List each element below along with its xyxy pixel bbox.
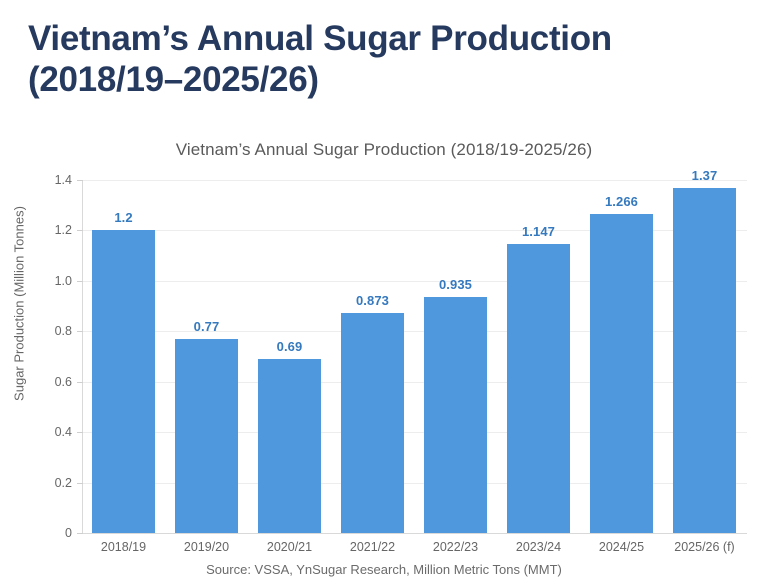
bar[interactable] (673, 188, 735, 533)
x-tick-label: 2025/26 (f) (663, 540, 746, 554)
x-tick-label: 2018/19 (82, 540, 165, 554)
x-tick-label: 2023/24 (497, 540, 580, 554)
bar-chart-figure: Vietnam’s Annual Sugar Production (2018/… (0, 128, 768, 588)
bar-value-label: 0.935 (414, 277, 497, 292)
bar-slot: 1.2 (82, 180, 165, 533)
bar-value-label: 1.266 (580, 194, 663, 209)
bar-value-label: 1.37 (663, 168, 746, 183)
bar[interactable] (341, 313, 403, 533)
y-tick-label: 0.2 (12, 476, 72, 490)
x-axis-labels: 2018/192019/202020/212021/222022/232023/… (82, 540, 746, 560)
y-axis-title: Sugar Production (Million Tonnes) (12, 134, 27, 474)
y-tick-label: 0 (12, 526, 72, 540)
bar-slot: 1.37 (663, 180, 746, 533)
bar-slot: 0.935 (414, 180, 497, 533)
bar[interactable] (424, 297, 486, 533)
x-tick-label: 2024/25 (580, 540, 663, 554)
source-note: Source: VSSA, YnSugar Research, Million … (0, 562, 768, 577)
page-title: Vietnam’s Annual Sugar Production (2018/… (28, 18, 728, 100)
bar-value-label: 0.69 (248, 339, 331, 354)
bar[interactable] (92, 230, 154, 533)
bar-slot: 0.69 (248, 180, 331, 533)
y-tick-mark (77, 533, 83, 534)
bar-slot: 1.147 (497, 180, 580, 533)
bar[interactable] (590, 214, 652, 533)
bar[interactable] (258, 359, 320, 533)
x-tick-label: 2022/23 (414, 540, 497, 554)
bar-slot: 0.77 (165, 180, 248, 533)
x-tick-label: 2019/20 (165, 540, 248, 554)
bar-slot: 1.266 (580, 180, 663, 533)
bar[interactable] (507, 244, 569, 533)
bar-value-label: 0.873 (331, 293, 414, 308)
bar-slot: 0.873 (331, 180, 414, 533)
bar-series: 1.20.770.690.8730.9351.1471.2661.37 (82, 180, 746, 533)
x-tick-label: 2021/22 (331, 540, 414, 554)
chart-title: Vietnam’s Annual Sugar Production (2018/… (0, 140, 768, 160)
bar-value-label: 0.77 (165, 319, 248, 334)
bar[interactable] (175, 339, 237, 533)
x-tick-label: 2020/21 (248, 540, 331, 554)
bar-value-label: 1.2 (82, 210, 165, 225)
bar-value-label: 1.147 (497, 224, 580, 239)
gridline (83, 533, 747, 534)
